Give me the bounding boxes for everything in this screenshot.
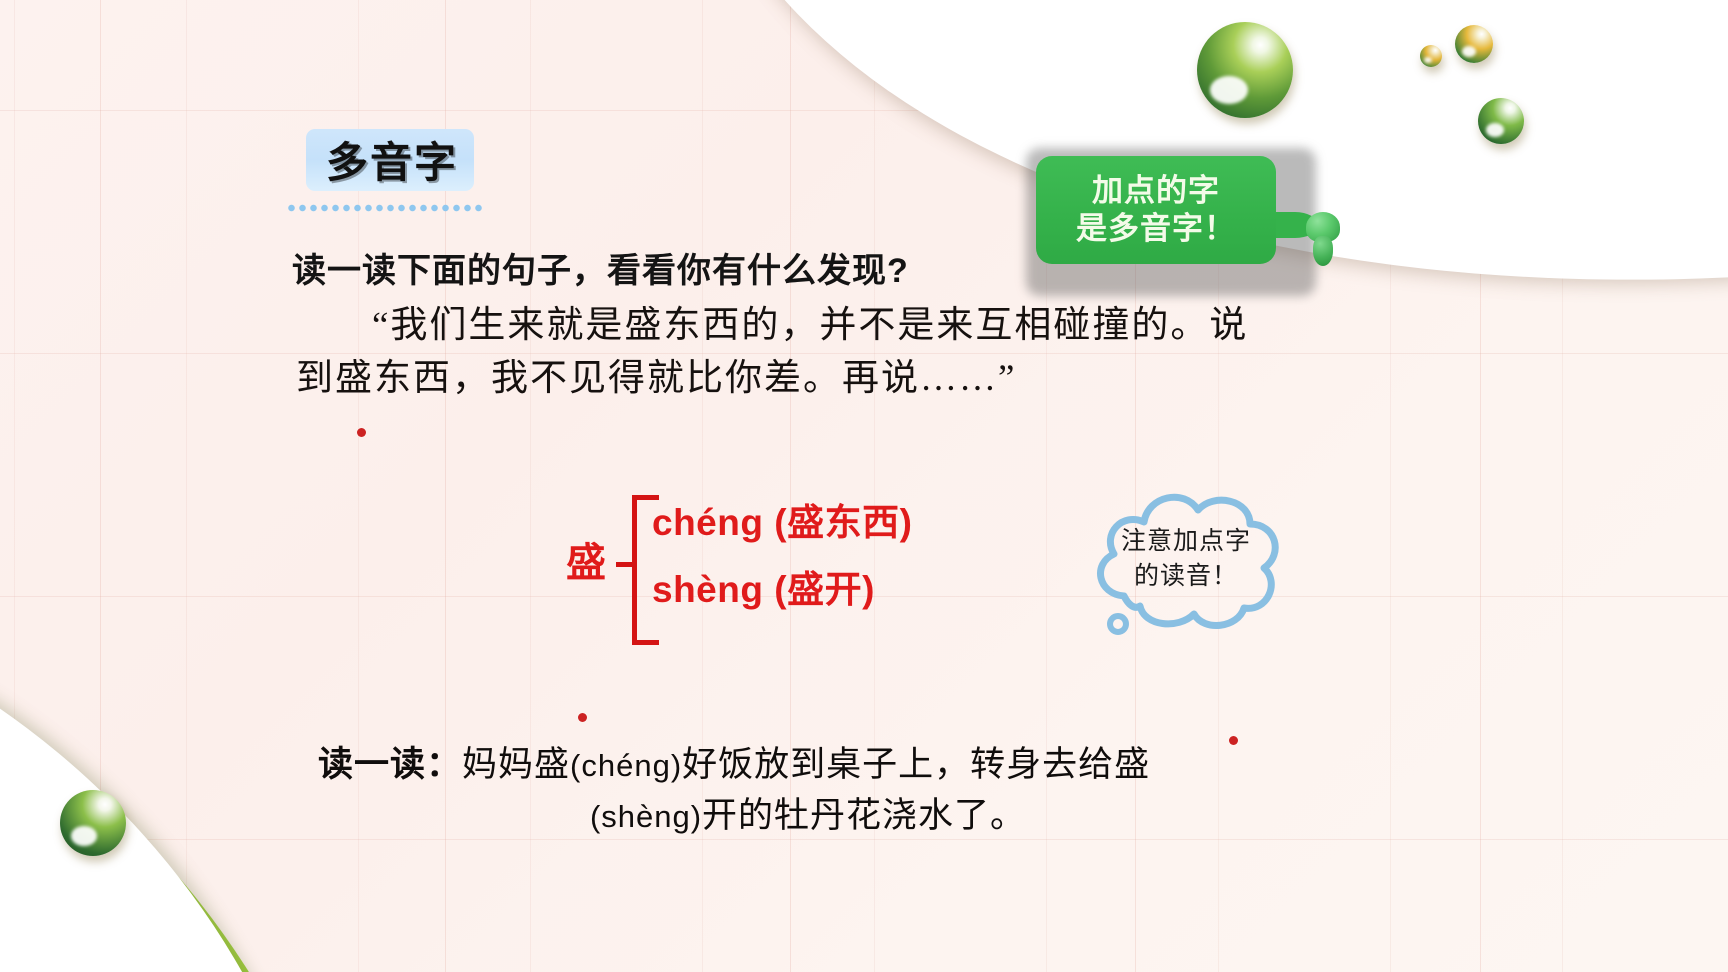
polyphone-word-1: (盛东西) <box>774 502 912 543</box>
cloud-bubble-line-2: 的读音！ <box>1100 560 1272 595</box>
polyphone-character: 盛 <box>566 530 607 588</box>
practice-line-2-pinyin: (shèng) <box>590 799 702 834</box>
green-hint-bubble: 加点的字 是多音字！ <box>1036 156 1276 264</box>
water-droplet-icon <box>60 790 126 856</box>
polyphone-pinyin-1: chéng <box>652 502 763 543</box>
practice-sentence: 读一读：妈妈盛(chéng)好饭放到桌子上，转身去给盛 (shèng)开的牡丹花… <box>318 740 1268 842</box>
practice-line-1-pinyin: (chéng) <box>570 748 682 783</box>
practice-line-2: (shèng)开的牡丹花浇水了。 <box>318 791 1268 842</box>
practice-line-1-body: 妈妈盛 <box>462 745 570 784</box>
emphasis-dot-marker <box>357 428 366 437</box>
quote-paragraph: “我们生来就是盛东西的，并不是来互相碰撞的。说 到盛东西，我不见得就比你差。再说… <box>296 300 1286 405</box>
quote-line-2: 到盛东西，我不见得就比你差。再说……” <box>296 353 1286 406</box>
polyphone-pinyin-2: shèng <box>652 569 763 610</box>
green-bubble-line-1: 加点的字 <box>1092 172 1220 210</box>
slide-canvas: 多音字 读一读下面的句子，看看你有什么发现? “我们生来就是盛东西的，并不是来互… <box>0 0 1728 972</box>
quote-line-1: “我们生来就是盛东西的，并不是来互相碰撞的。说 <box>296 300 1286 353</box>
water-droplet-icon <box>1478 98 1524 144</box>
prompt-heading: 读一读下面的句子，看看你有什么发现? <box>292 243 909 292</box>
practice-line-1-tail: 好饭放到桌子上，转身去给盛 <box>682 745 1150 784</box>
emphasis-dot-marker <box>1229 736 1238 745</box>
polyphone-reading-2: shèng (盛开) <box>652 559 875 613</box>
section-title: 多音字 <box>310 128 474 190</box>
push-pin-body <box>1313 236 1333 266</box>
cloud-bubble-line-1: 注意加点字 <box>1100 525 1272 560</box>
title-dotted-underline <box>286 204 482 212</box>
water-droplet-icon <box>1197 22 1293 118</box>
green-bubble-line-2: 是多音字！ <box>1076 210 1236 248</box>
practice-line-1: 读一读：妈妈盛(chéng)好饭放到桌子上，转身去给盛 <box>318 740 1268 791</box>
cloud-bubble-text: 注意加点字 的读音！ <box>1100 525 1272 594</box>
polyphone-word-2: (盛开) <box>774 569 875 610</box>
practice-label: 读一读： <box>318 745 462 784</box>
emphasis-dot-marker <box>578 713 587 722</box>
water-droplet-icon <box>1420 45 1442 67</box>
polyphone-bracket-nub <box>616 562 634 567</box>
polyphone-reading-1: chéng (盛东西) <box>652 492 912 546</box>
practice-line-2-tail: 开的牡丹花浇水了。 <box>702 796 1026 835</box>
push-pin-icon <box>1306 212 1340 268</box>
water-droplet-icon <box>1455 25 1493 63</box>
